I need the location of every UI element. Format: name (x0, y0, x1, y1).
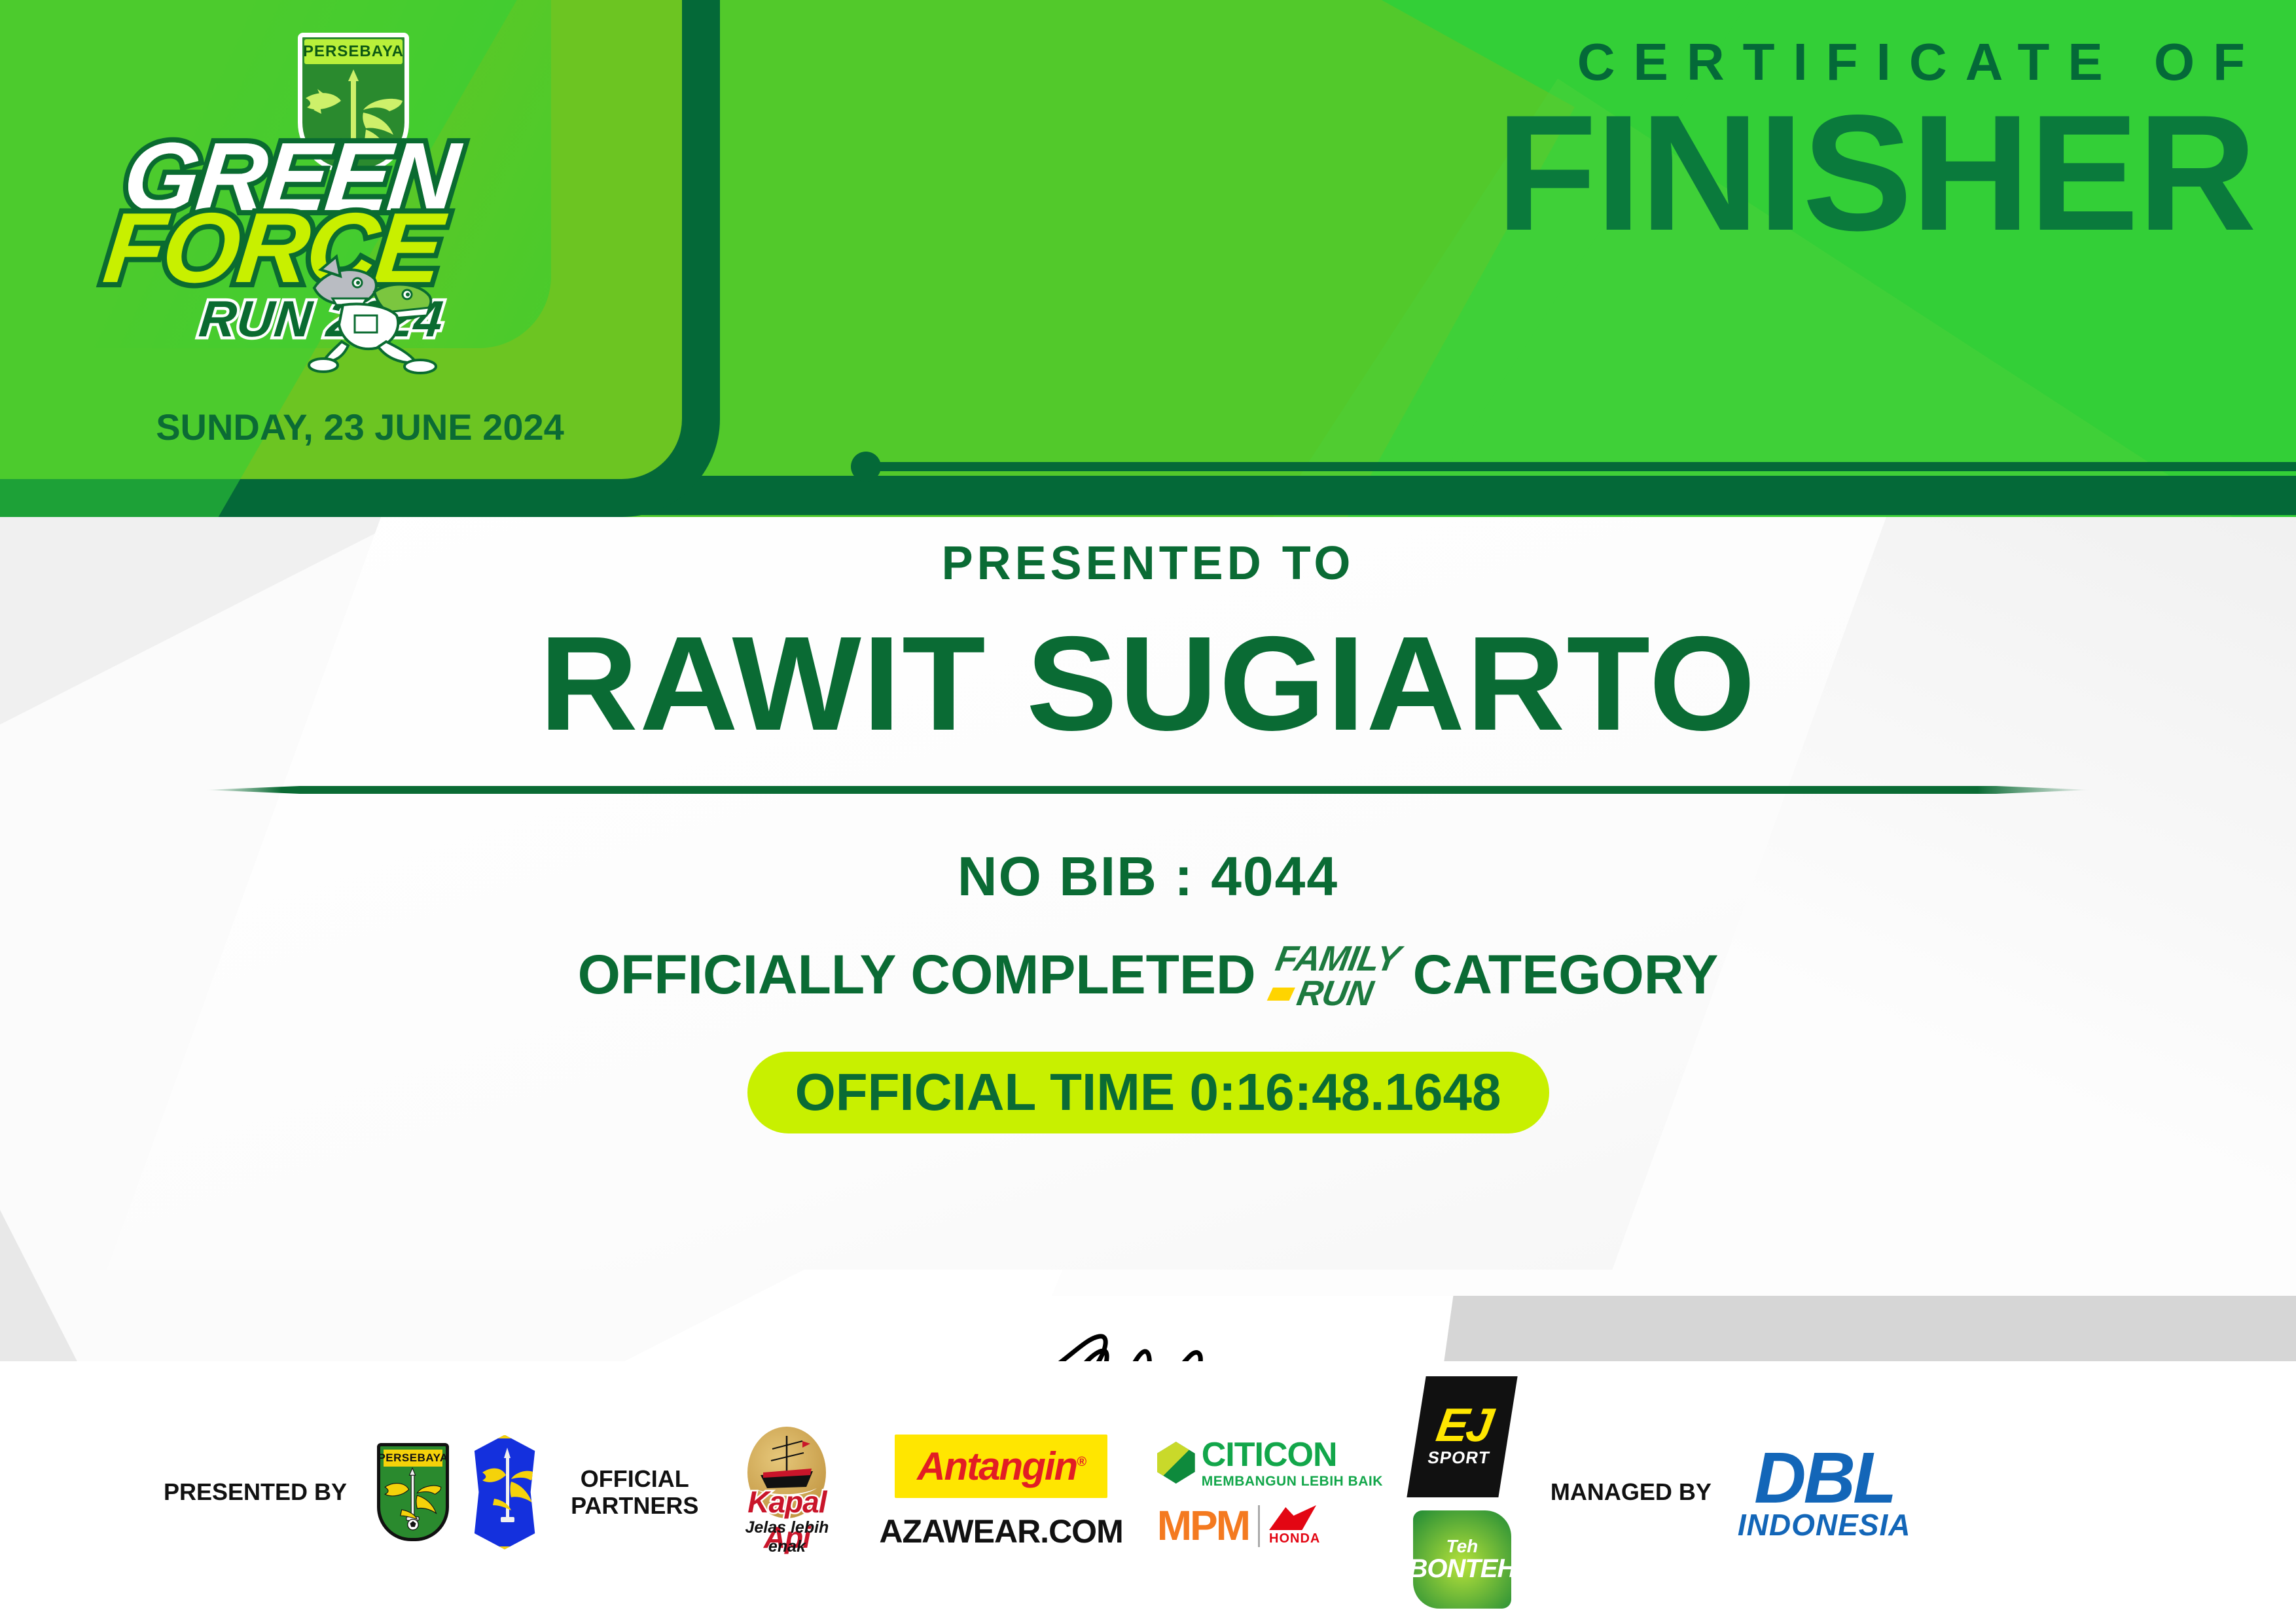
kapal-api-logo-icon: Kapal Api Jelas lebih enak (725, 1427, 849, 1558)
honda-name: HONDA (1269, 1531, 1320, 1546)
surabaya-city-artwork-icon (472, 1438, 544, 1553)
completed-suffix: CATEGORY (1413, 943, 1719, 1007)
dbl-indonesia-logo-icon: DBL INDONESIA (1738, 1446, 1911, 1539)
honda-wing-icon (1269, 1505, 1316, 1530)
dbl-name: DBL (1738, 1446, 1911, 1510)
citicon-name: CITICON (1202, 1438, 1383, 1472)
official-partners-label: OFFICIAL PARTNERS (571, 1465, 698, 1520)
antangin-registered-mark: ® (1077, 1455, 1085, 1469)
presented-by-label: PRESENTED BY (164, 1478, 347, 1505)
managed-by-label: MANAGED BY (1551, 1478, 1712, 1505)
mpm-name: MPM (1157, 1507, 1249, 1545)
bib-number: 4044 (1211, 846, 1338, 907)
teh-bonteh-bottom: BONTEH (1408, 1556, 1515, 1582)
ej-tagline: SPORT (1426, 1447, 1491, 1467)
antangin-logo-icon: Antangin® (895, 1435, 1107, 1498)
certificate-canvas: PERSEBAYA GREEN FORCE (0, 0, 2296, 1623)
teh-bonteh-top: Teh (1446, 1537, 1479, 1556)
shark-crocodile-mascot-icon (295, 242, 458, 393)
azawear-logo-text: AZAWEAR.COM (879, 1512, 1122, 1550)
certificate-kicker: CERTIFICATE OF (941, 36, 2263, 88)
family-run-dash-icon (1266, 988, 1295, 1001)
citicon-tagline: MEMBANGUN LEBIH BAIK (1202, 1474, 1383, 1488)
ej-name: EJ (1434, 1406, 1494, 1446)
certificate-type: FINISHER (941, 98, 2255, 249)
kapal-api-tagline: Jelas lebih enak (725, 1518, 849, 1556)
surabaya-city-crest-icon (469, 1435, 541, 1550)
presented-to-label: PRESENTED TO (0, 537, 2296, 590)
mpm-honda-logo-icon: MPM HONDA (1157, 1505, 1321, 1547)
persebaya-footer-artwork-icon (380, 1466, 446, 1539)
persebaya-footer-crest-icon: PERSEBAYA (377, 1443, 449, 1541)
bib-row: NO BIB :4044 (0, 845, 2296, 908)
teh-bonteh-logo-icon: Teh BONTEH (1413, 1510, 1511, 1609)
presented-by-logos: PERSEBAYA (377, 1435, 541, 1550)
citicon-logo-icon: CITICON MEMBANGUN LEBIH BAIK (1157, 1438, 1383, 1488)
event-date: SUNDAY, 23 JUNE 2024 (98, 406, 622, 448)
green-force-run-logo: GREEN FORCE RUN 2024 (98, 137, 622, 412)
completed-prefix: OFFICIALLY COMPLETED (578, 943, 1256, 1007)
sponsor-footer: PRESENTED BY PERSEBAYA (0, 1361, 2296, 1623)
crest-band-label: PERSEBAYA (304, 39, 403, 64)
official-time-badge: OFFICIAL TIME 0:16:48.1648 (747, 1052, 1549, 1133)
certificate-title-block: CERTIFICATE OF FINISHER (941, 36, 2250, 249)
certificate-header: PERSEBAYA GREEN FORCE (0, 0, 2296, 517)
citicon-mark-icon (1157, 1442, 1195, 1484)
recipient-name: RAWIT SUGIARTO (0, 616, 2296, 751)
connector-line (877, 462, 2296, 471)
certificate-body: PRESENTED TO RAWIT SUGIARTO NO BIB :4044… (0, 497, 2296, 1361)
persebaya-footer-crest-label: PERSEBAYA (384, 1450, 442, 1467)
bib-label: NO BIB : (958, 846, 1194, 907)
name-underline-rule (206, 786, 2090, 794)
family-run-logo-icon: FAMILY RUN (1266, 942, 1401, 1011)
official-time-text: OFFICIAL TIME 0:16:48.1648 (795, 1062, 1501, 1122)
family-run-top: FAMILY (1273, 942, 1402, 976)
category-row: OFFICIALLY COMPLETED FAMILY RUN CATEGORY (0, 938, 2296, 1011)
dbl-tagline: INDONESIA (1738, 1512, 1911, 1539)
antangin-name: Antangin (917, 1444, 1077, 1488)
ej-sport-logo-icon: EJ SPORT (1407, 1376, 1517, 1497)
family-run-bottom: RUN (1294, 977, 1374, 1010)
